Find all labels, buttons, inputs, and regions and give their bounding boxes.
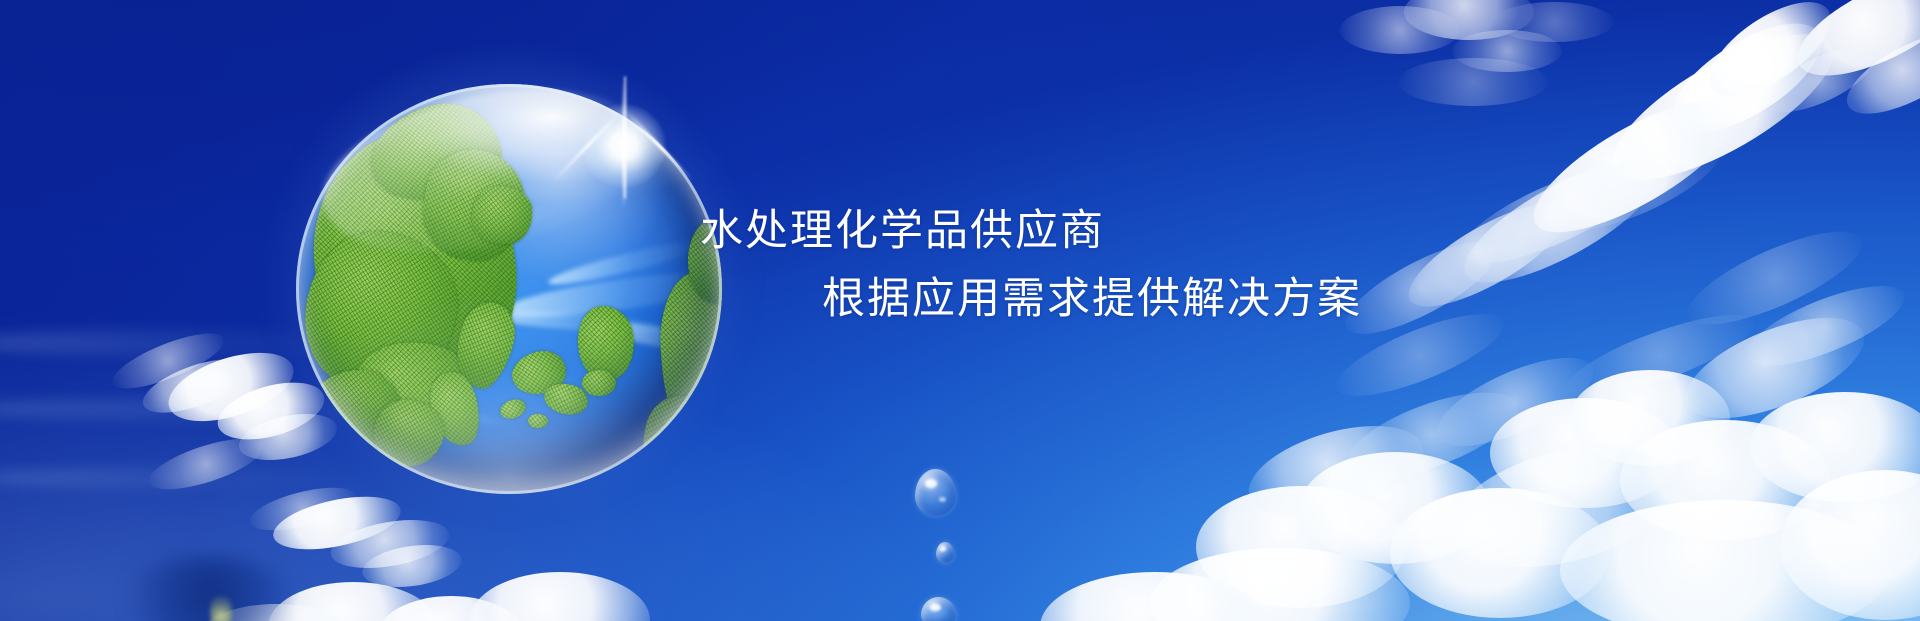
hero-banner: 水处理化学品供应商 根据应用需求提供解决方案	[0, 0, 1920, 621]
headline-line-1: 水处理化学品供应商	[700, 196, 1105, 258]
foreground-tip-highlight	[210, 596, 232, 621]
earth-glass-globe	[296, 84, 722, 494]
headline-line-2: 根据应用需求提供解决方案	[822, 264, 1362, 326]
sun-flare-ray	[624, 77, 627, 199]
